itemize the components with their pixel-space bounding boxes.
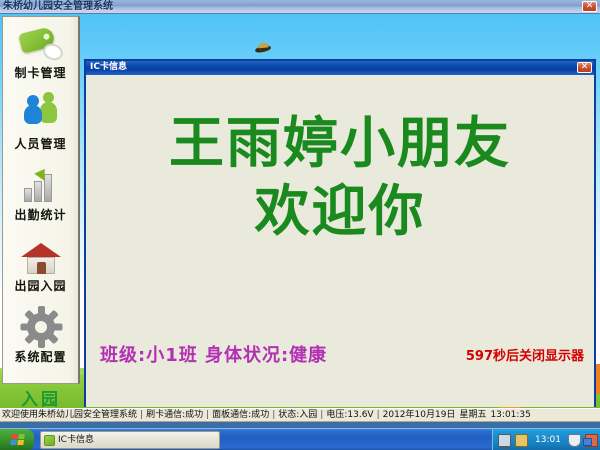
sidebar-item-attendance-statistics[interactable]: 出勤统计 <box>3 163 78 234</box>
bird-icon <box>255 44 272 53</box>
sidebar: 制卡管理 人员管理 出勤统计 出园入园 <box>2 16 80 384</box>
tray-clock[interactable]: 13:01 <box>535 434 561 446</box>
status-card-communication: 刷卡通信:成功 <box>144 409 205 421</box>
sidebar-item-entry-exit[interactable]: 出园入园 <box>3 234 78 305</box>
sidebar-item-label: 制卡管理 <box>14 65 66 81</box>
application-window: 朱桥幼儿园安全管理系统 ✕ <box>0 0 600 450</box>
welcome-message: 王雨婷小朋友 欢迎你 <box>86 111 594 243</box>
application-body: 制卡管理 人员管理 出勤统计 出园入园 <box>0 14 600 408</box>
class-and-health-info: 班级:小1班 身体状况:健康 <box>100 341 327 367</box>
sidebar-item-label: 人员管理 <box>14 136 66 152</box>
close-icon[interactable]: ✕ <box>582 1 597 12</box>
sidebar-status-entry: 入园 <box>2 386 80 408</box>
ic-card-info-window: IC卡信息 ✕ 王雨婷小朋友 欢迎你 班级:小1班 身体状况:健康 597秒后关… <box>84 59 596 407</box>
sidebar-item-label: 出勤统计 <box>14 207 66 223</box>
gear-icon <box>18 308 64 348</box>
start-button[interactable] <box>0 429 34 450</box>
status-voltage: 电压:13.6V <box>324 409 375 421</box>
sidebar-item-system-config[interactable]: 系统配置 <box>3 305 78 376</box>
sidebar-item-label: 出园入园 <box>14 278 66 294</box>
shield-icon[interactable] <box>568 434 581 447</box>
main-window-title: 朱桥幼儿园安全管理系统 <box>3 1 113 13</box>
sidebar-item-personnel-management[interactable]: 人员管理 <box>3 92 78 163</box>
ic-card-info-titlebar[interactable]: IC卡信息 ✕ <box>86 61 594 75</box>
house-icon <box>18 237 64 277</box>
main-window-titlebar[interactable]: 朱桥幼儿园安全管理系统 ✕ <box>0 0 600 14</box>
ic-card-info-title: IC卡信息 <box>90 62 127 73</box>
card-tag-icon <box>18 24 64 64</box>
close-icon[interactable]: ✕ <box>577 62 592 73</box>
taskbar-item-ic-card-info[interactable]: IC卡信息 <box>40 431 220 449</box>
status-weekday: 星期五 <box>457 409 488 421</box>
network-icon[interactable] <box>585 434 598 447</box>
system-tray: 13:01 <box>492 429 600 450</box>
taskbar-item-label: IC卡信息 <box>58 435 94 446</box>
sidebar-item-label: 系统配置 <box>14 349 66 365</box>
ic-card-icon <box>44 435 55 446</box>
ic-card-info-body: 王雨婷小朋友 欢迎你 班级:小1班 身体状况:健康 597秒后关闭显示器 <box>86 75 594 407</box>
sidebar-item-card-management[interactable]: 制卡管理 <box>3 21 78 92</box>
bar-chart-icon <box>18 166 64 206</box>
plug-icon[interactable] <box>515 434 528 447</box>
people-icon <box>18 95 64 135</box>
status-panel-communication: 面板通信:成功 <box>210 409 271 421</box>
sidebar-status-label: 入园 <box>21 385 61 409</box>
student-info-row: 班级:小1班 身体状况:健康 597秒后关闭显示器 <box>86 341 594 367</box>
status-state: 状态:入园 <box>276 409 319 421</box>
taskbar: IC卡信息 13:01 <box>0 428 600 450</box>
status-greeting: 欢迎使用朱桥幼儿园安全管理系统 <box>0 409 139 421</box>
monitor-icon[interactable] <box>498 434 511 447</box>
welcome-text-line: 欢迎你 <box>86 179 594 243</box>
status-time: 13:01:35 <box>488 409 532 421</box>
status-bar: 欢迎使用朱桥幼儿园安全管理系统 | 刷卡通信:成功 | 面板通信:成功 | 状态… <box>0 408 600 422</box>
windows-logo-icon <box>10 434 25 446</box>
display-shutdown-countdown: 597秒后关闭显示器 <box>466 345 584 364</box>
status-date: 2012年10月19日 <box>381 409 458 421</box>
student-name-line: 王雨婷小朋友 <box>86 111 594 175</box>
